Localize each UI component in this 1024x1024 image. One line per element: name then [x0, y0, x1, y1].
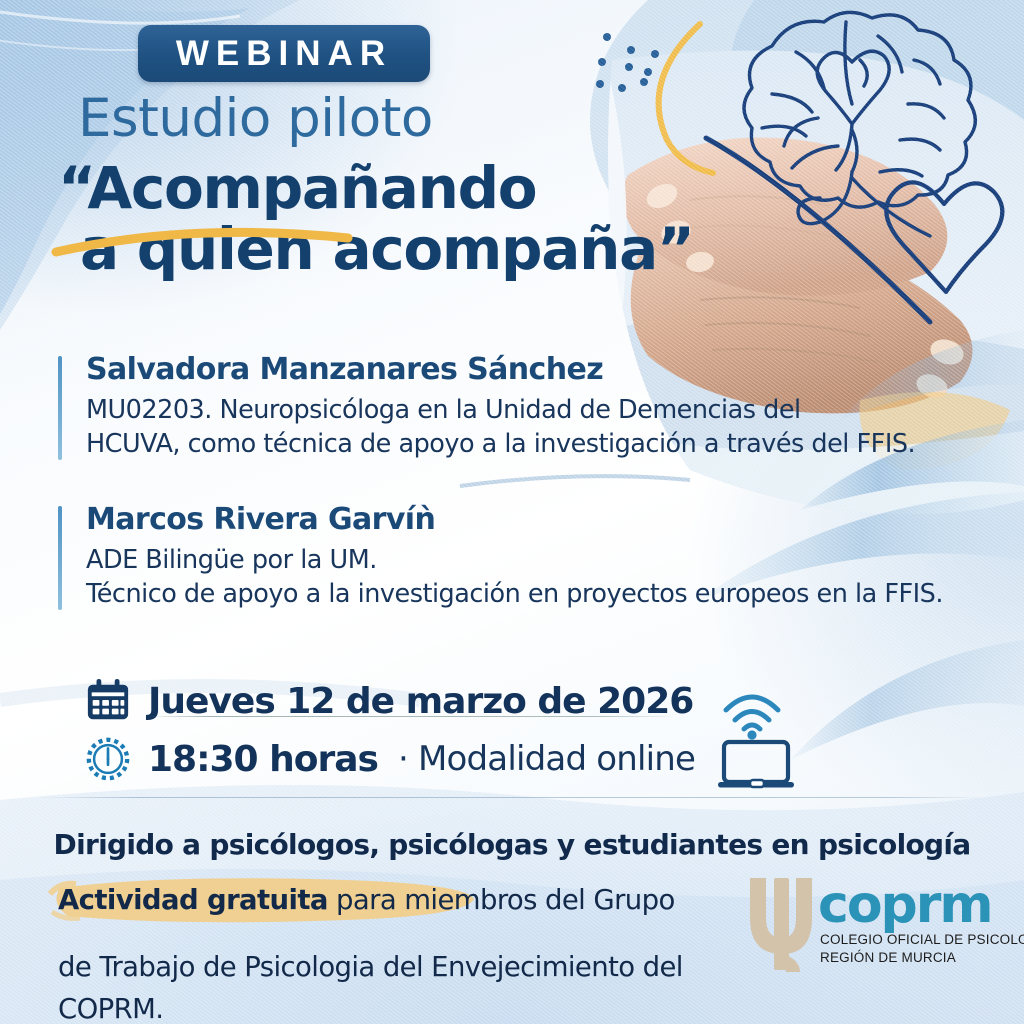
speaker-bio-line: Técnico de apoyo a la investigación en p…: [86, 577, 988, 611]
clock-icon: [82, 733, 134, 785]
heart-outline-icon: [886, 182, 1002, 292]
audience-text: Dirigido a psicólogos, psicólogas y estu…: [0, 828, 1024, 861]
speakers-section: Salvadora Manzanares Sánchez MU02203. Ne…: [58, 352, 988, 645]
online-device-icons: [712, 682, 804, 790]
datetime-divider: [146, 716, 676, 717]
free-activity-line-1: Actividad gratuita para miembros del Gru…: [58, 880, 758, 921]
event-time: 18:30 horas: [148, 739, 378, 780]
subtitle-estudio-piloto: Estudio piloto: [78, 92, 698, 145]
calendar-icon: [82, 675, 134, 727]
speaker-name: Salvadora Manzanares Sánchez: [86, 352, 988, 387]
event-modality: · Modalidad online: [398, 739, 695, 779]
free-activity-block: Actividad gratuita para miembros del Gru…: [58, 880, 758, 1024]
webinar-badge: WEBINAR: [138, 25, 430, 82]
monitor-icon: [724, 742, 788, 782]
wifi-icon: [726, 697, 778, 729]
event-datetime-section: Jueves 12 de marzo de 2026 18:30 horas ·…: [82, 672, 822, 788]
webinar-badge-label: WEBINAR: [176, 34, 392, 74]
footer-divider: [40, 797, 984, 798]
speaker-block: Salvadora Manzanares Sánchez MU02203. Ne…: [58, 352, 988, 462]
speaker-bio-line: ADE Bilingüe por la UM.: [86, 543, 988, 577]
page-title: “Acompañando a quien acompaña”: [58, 158, 718, 281]
coprm-wordmark: coprm: [818, 875, 992, 935]
title-line-2: a quien acompaña”: [58, 219, 718, 280]
event-date-row: Jueves 12 de marzo de 2026: [82, 672, 822, 730]
coprm-logo: coprm COLEGIO OFICIAL DE PSICOLOGIA REGI…: [742, 872, 1010, 984]
free-activity-rest: para miembros del Grupo: [328, 884, 675, 916]
speaker-block: Marcos Rivera Garvíǹ ADE Bilingüe por l…: [58, 502, 988, 612]
psi-symbol-icon: [742, 872, 820, 976]
wifi-dot-icon: [747, 730, 756, 739]
speaker-accent-bar: [58, 356, 62, 460]
speaker-name: Marcos Rivera Garvíǹ: [86, 502, 988, 537]
coprm-subtitle-2: REGIÓN DE MURCIA: [820, 950, 956, 965]
speaker-accent-bar: [58, 506, 62, 610]
speaker-bio-line: HCUVA, como técnica de apoyo a la invest…: [86, 427, 988, 461]
dot-grid-icon: [596, 33, 659, 92]
speaker-bio-line: MU02203. Neuropsicóloga en la Unidad de …: [86, 393, 988, 427]
coprm-subtitle-1: COLEGIO OFICIAL DE PSICOLOGIA: [820, 932, 1024, 947]
free-activity-highlight: Actividad gratuita: [58, 884, 328, 916]
free-activity-line-2: de Trabajo de Psicologia del Envejecimie…: [58, 947, 758, 1024]
event-time-row: 18:30 horas · Modalidad online: [82, 730, 822, 788]
title-line-1: “Acompañando: [58, 154, 536, 222]
webinar-poster: WEBINAR Estudio piloto “Acompañando a qu…: [0, 0, 1024, 1024]
brain-line-art-icon: [744, 12, 975, 236]
